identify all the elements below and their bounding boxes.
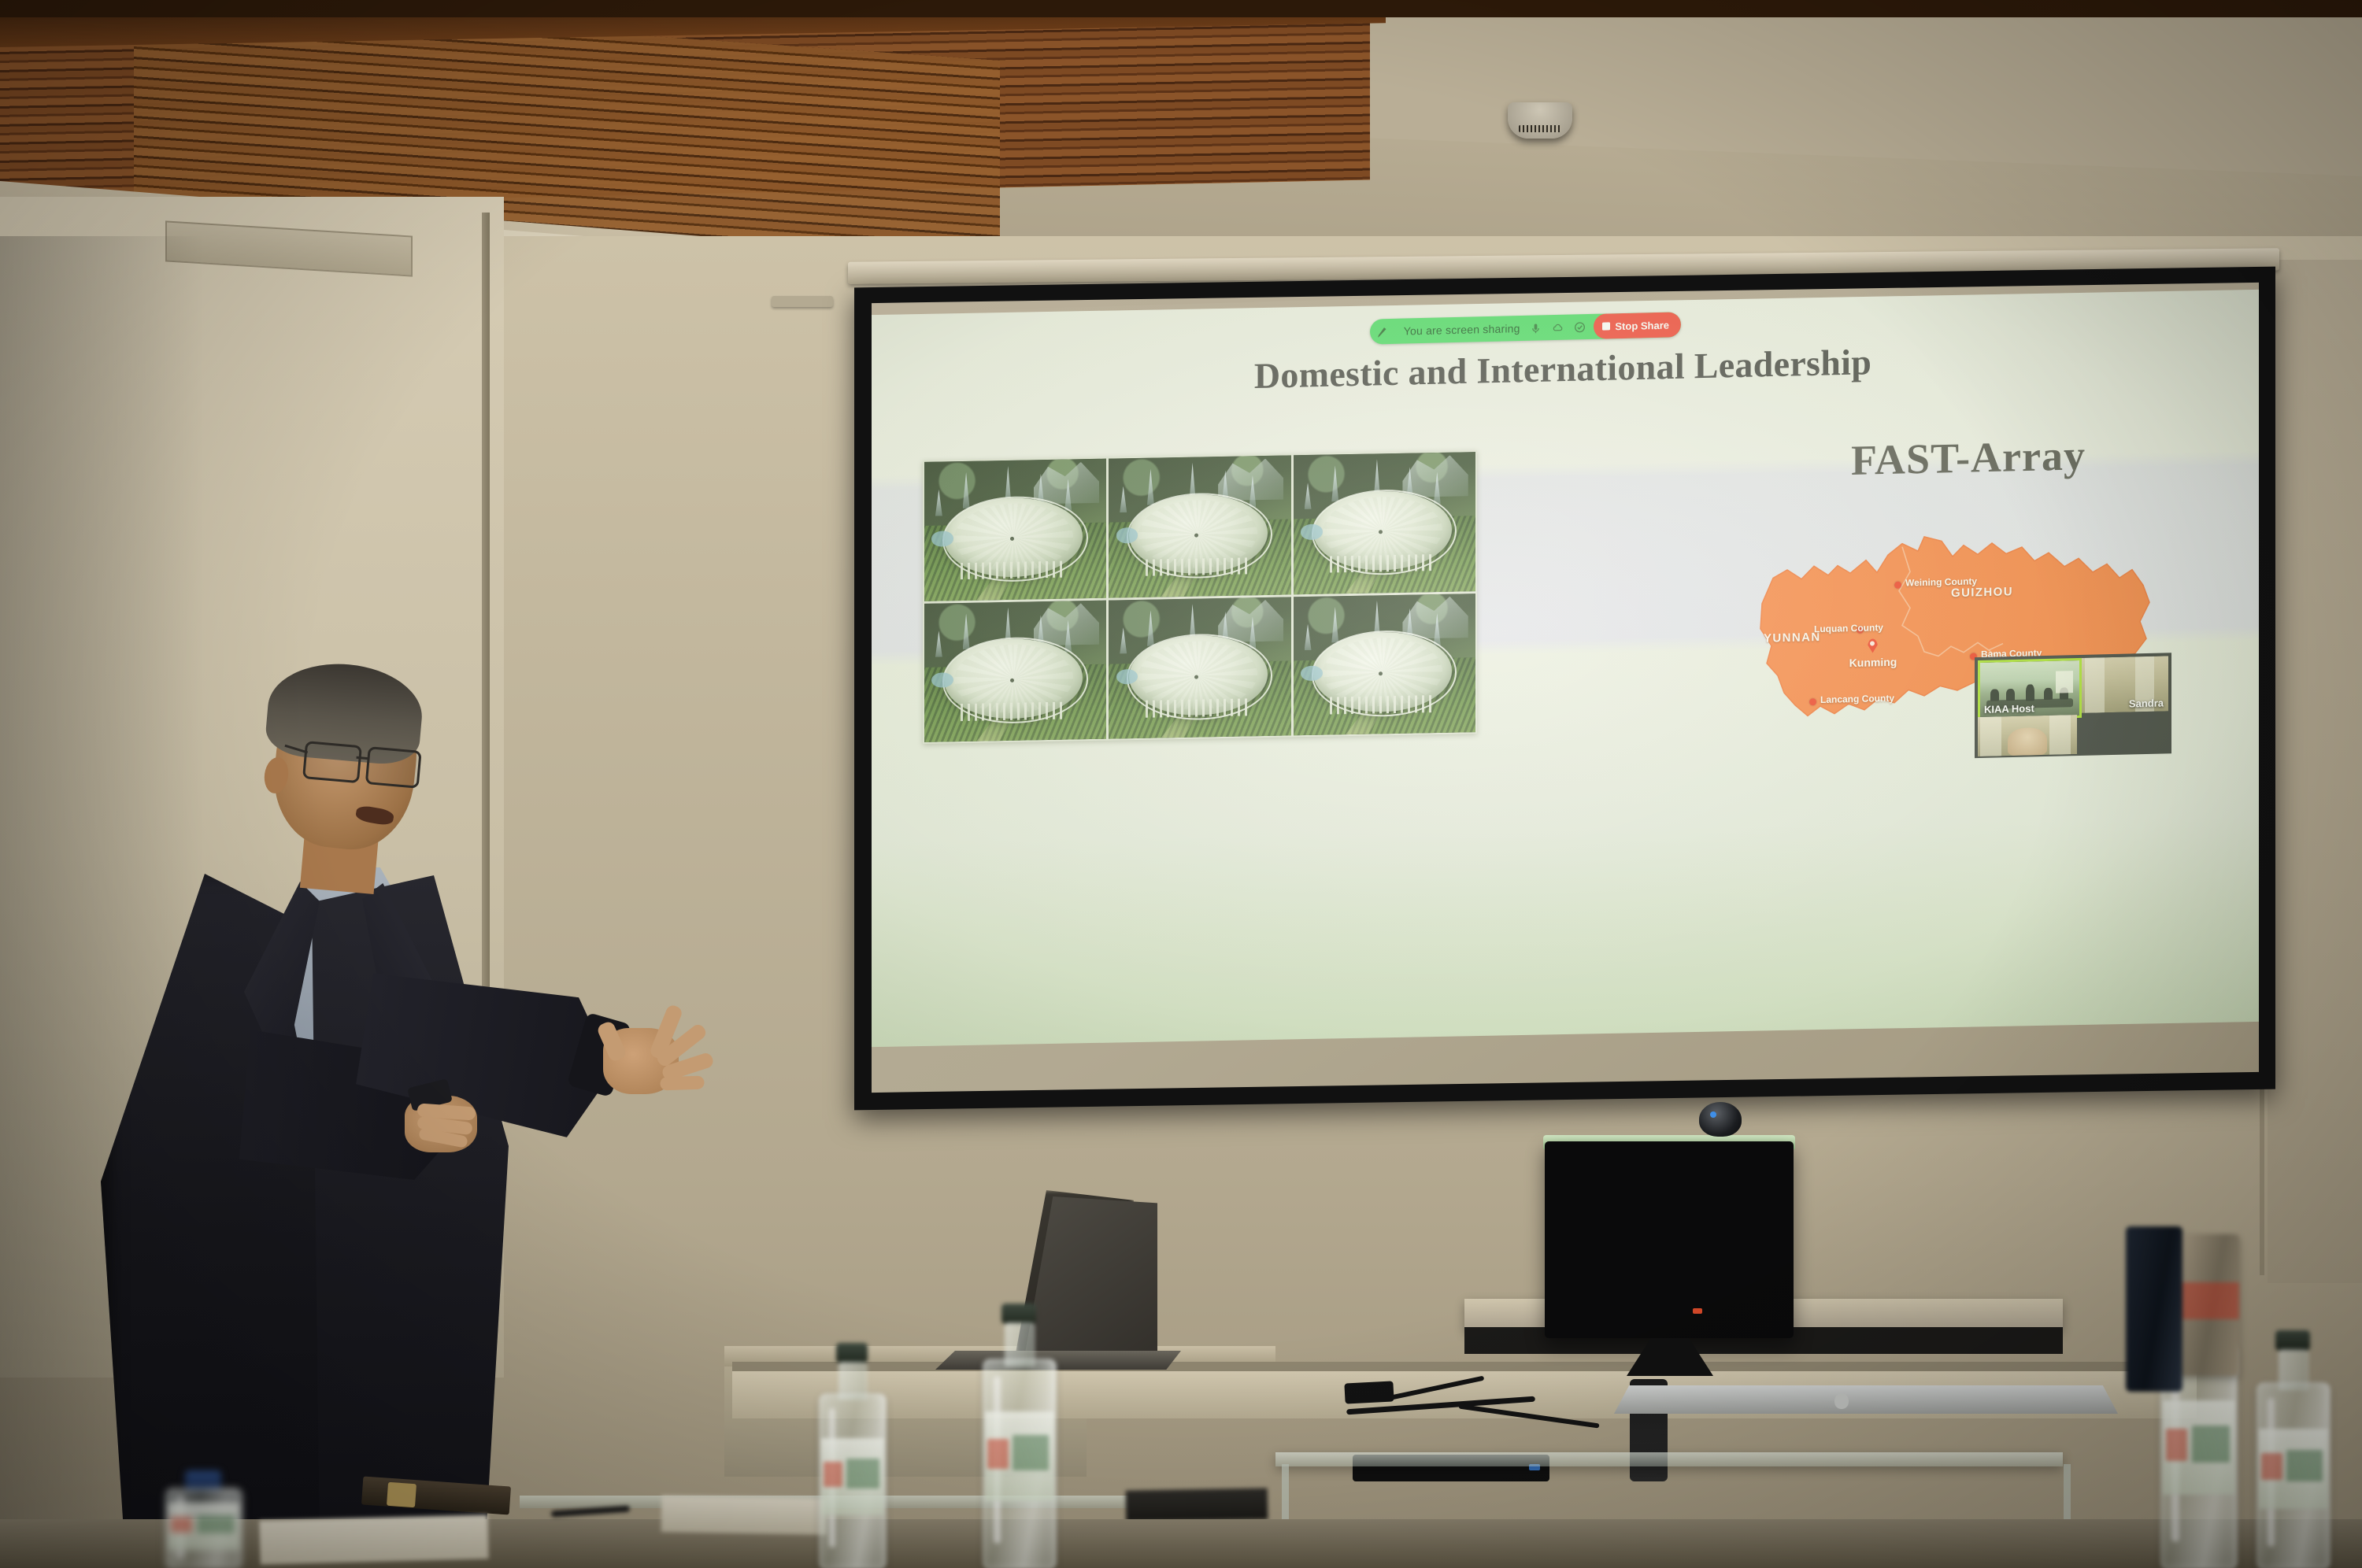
stop-share-button[interactable]: Stop Share	[1594, 312, 1681, 339]
stop-square-icon	[1602, 322, 1610, 330]
map-label-luquan-county: Luquan County	[1814, 623, 1857, 634]
smoke-detector-icon	[1508, 102, 1572, 139]
smoke-detector-vents	[1519, 125, 1561, 132]
apple-logo-icon	[1834, 1393, 1849, 1409]
zoom-toolbar-icons	[1530, 320, 1594, 334]
telescope-image	[1109, 455, 1290, 597]
bottle-label	[168, 1503, 240, 1550]
bottle-body	[983, 1359, 1057, 1568]
screen-share-status: You are screen sharing	[1394, 322, 1530, 338]
bottle-label	[2259, 1429, 2328, 1509]
projection-screen: You are screen sharing Stop Share Domest…	[854, 277, 2275, 1100]
belt-buckle	[387, 1482, 416, 1507]
papers	[259, 1514, 488, 1565]
province-label-guizhou: GUIZHOU	[1951, 585, 2013, 600]
bottle-cap	[1001, 1304, 1036, 1324]
webcam-led	[1710, 1111, 1716, 1118]
monitor-power-led	[1693, 1308, 1702, 1314]
water-bottle[interactable]	[165, 1470, 241, 1568]
water-bottle[interactable]	[819, 1343, 885, 1568]
zoom-tile-sandra[interactable]: Sandra	[2082, 656, 2168, 713]
zoom-tile-kiaa-host[interactable]: KIAA Host	[1978, 658, 2082, 720]
telescope-image	[1294, 594, 1475, 736]
cloud-icon[interactable]	[1552, 321, 1564, 333]
fast-array-heading: FAST-Array	[1764, 429, 2173, 487]
bottle-cap	[836, 1343, 868, 1363]
beverage-can[interactable]	[2178, 1234, 2239, 1376]
notebook	[1126, 1488, 1268, 1522]
ceiling-top-edge	[0, 0, 2362, 17]
bottle-body	[2256, 1382, 2331, 1568]
check-circle-icon[interactable]	[1574, 321, 1586, 333]
telescope-image	[924, 459, 1106, 601]
macbook-closed[interactable]	[1614, 1385, 2118, 1414]
telescope-image	[1109, 597, 1290, 739]
zoom-tile-secondary[interactable]	[1978, 715, 2077, 756]
power-brick	[1344, 1381, 1394, 1403]
conference-webcam-icon[interactable]	[1699, 1102, 1742, 1137]
laptop-base[interactable]	[935, 1351, 1181, 1370]
zoom-tile-name-label: Sandra	[2129, 697, 2164, 709]
wall-conduit	[772, 296, 833, 307]
zoom-screen-share-toolbar[interactable]: You are screen sharing Stop Share	[1370, 312, 1681, 344]
stop-share-label: Stop Share	[1615, 319, 1669, 332]
conference-room-scene: You are screen sharing Stop Share Domest…	[0, 0, 2362, 1568]
right-wall	[2268, 260, 2362, 1283]
bottle-body	[165, 1488, 242, 1568]
screen-surface: You are screen sharing Stop Share Domest…	[872, 283, 2259, 1093]
annotate-pencil-icon[interactable]	[1370, 325, 1394, 338]
bottle-cap	[2275, 1330, 2310, 1351]
water-bottle[interactable]	[983, 1304, 1055, 1568]
map-label-kunming: Kunming	[1849, 657, 1897, 668]
zoom-tile-video	[1978, 715, 2077, 756]
zoom-tile-name-label: KIAA Host	[1984, 702, 2034, 716]
water-bottle[interactable]	[2256, 1330, 2329, 1568]
bottle-body	[819, 1393, 887, 1568]
bottle-label	[2163, 1400, 2235, 1495]
right-hand	[598, 1001, 705, 1105]
slide-title: Domestic and International Leadership	[872, 332, 2259, 405]
microphone-icon[interactable]	[1530, 322, 1542, 334]
bottle-label	[821, 1438, 885, 1515]
bottle-label	[985, 1411, 1054, 1501]
map-label-lancang-county: Lancang County	[1820, 694, 1869, 704]
zoom-participant-tiles: KIAA Host Sandra	[1975, 653, 2171, 758]
telescope-image	[924, 600, 1106, 742]
telescope-image-grid	[923, 450, 1477, 744]
thermos[interactable]	[2126, 1226, 2182, 1392]
left-hand	[403, 1077, 498, 1162]
external-monitor[interactable]	[1545, 1141, 1794, 1338]
presenter	[126, 645, 693, 1568]
telescope-image	[1294, 452, 1475, 594]
projected-slide: You are screen sharing Stop Share Domest…	[872, 290, 2259, 1047]
papers	[661, 1496, 827, 1535]
province-label-yunnan: YUNNAN	[1764, 631, 1821, 645]
map-label-weining-county: Weining County	[1905, 577, 1967, 588]
